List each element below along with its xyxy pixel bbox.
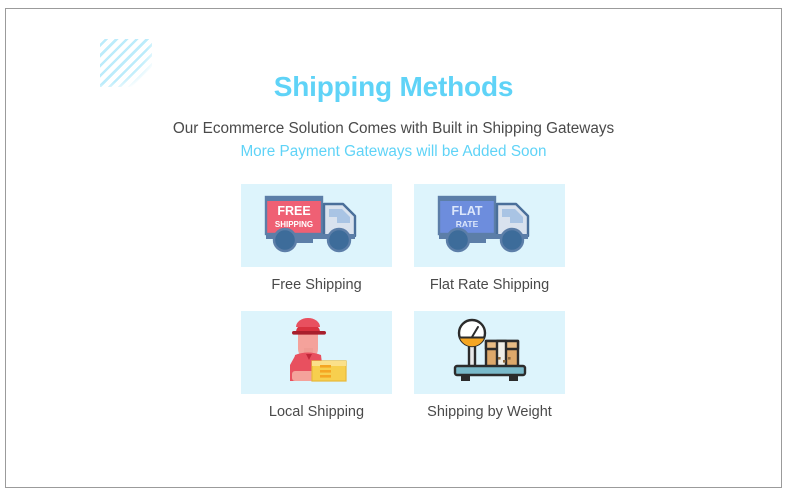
page-title: Shipping Methods — [6, 71, 781, 103]
method-flat-rate-shipping[interactable]: FLAT RATE Flat Rate Shipping — [414, 184, 565, 293]
page-subtitle-secondary: More Payment Gateways will be Added Soon — [6, 143, 781, 161]
method-free-shipping[interactable]: FREE SHIPPING — [241, 184, 392, 293]
method-icon-card[interactable] — [241, 311, 392, 394]
truck-free-shipping-icon: FREE SHIPPING — [261, 192, 373, 259]
methods-row-2: Local Shipping — [241, 311, 571, 420]
method-shipping-by-weight[interactable]: Shipping by Weight — [414, 311, 565, 420]
shipping-methods-grid: FREE SHIPPING — [241, 184, 571, 420]
slide-page: Shipping Methods Our Ecommerce Solution … — [5, 8, 782, 488]
methods-row-1: FREE SHIPPING — [241, 184, 571, 293]
method-label: Local Shipping — [241, 404, 392, 420]
svg-text:FREE: FREE — [277, 204, 310, 218]
weighing-scale-parcel-icon — [447, 317, 533, 388]
method-icon-card[interactable]: FLAT RATE — [414, 184, 565, 267]
method-icon-card[interactable] — [414, 311, 565, 394]
method-label: Flat Rate Shipping — [414, 277, 565, 293]
method-label: Free Shipping — [241, 277, 392, 293]
method-local-shipping[interactable]: Local Shipping — [241, 311, 392, 420]
svg-text:RATE: RATE — [455, 219, 478, 229]
method-icon-card[interactable]: FREE SHIPPING — [241, 184, 392, 267]
page-subtitle-primary: Our Ecommerce Solution Comes with Built … — [6, 120, 781, 138]
svg-text:SHIPPING: SHIPPING — [274, 220, 312, 229]
method-label: Shipping by Weight — [414, 404, 565, 420]
courier-with-parcel-icon — [278, 315, 356, 390]
truck-flat-rate-icon: FLAT RATE — [434, 192, 546, 259]
svg-text:FLAT: FLAT — [451, 204, 482, 218]
